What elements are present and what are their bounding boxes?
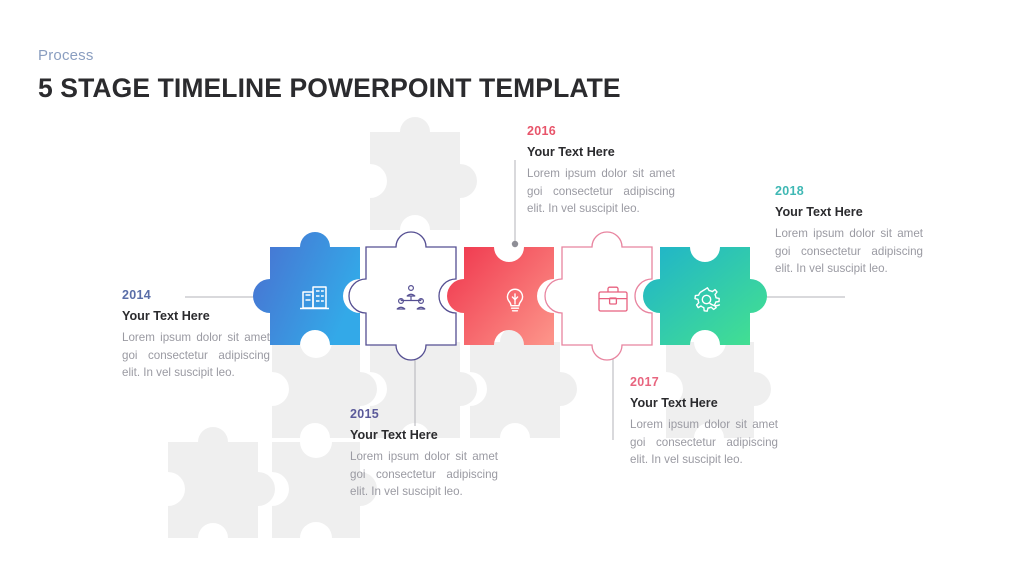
callout-year-2014: 2014 bbox=[122, 289, 270, 302]
callout-year-2018: 2018 bbox=[775, 185, 923, 198]
callout-2016[interactable]: 2016 Your Text Here Lorem ipsum dolor si… bbox=[527, 125, 675, 218]
slide-eyebrow: Process bbox=[38, 47, 94, 64]
callout-year-2015: 2015 bbox=[350, 408, 498, 421]
callout-2014[interactable]: 2014 Your Text Here Lorem ipsum dolor si… bbox=[122, 289, 270, 382]
puzzle-shape-2016 bbox=[447, 247, 554, 345]
connector-dot-2016 bbox=[512, 241, 518, 247]
callout-year-2017: 2017 bbox=[630, 376, 778, 389]
puzzle-piece-2018[interactable] bbox=[643, 247, 767, 345]
callout-2017[interactable]: 2017 Your Text Here Lorem ipsum dolor si… bbox=[630, 376, 778, 469]
ghost-piece-top bbox=[370, 117, 477, 230]
callout-body-2016: Lorem ipsum dolor sit amet goi consectet… bbox=[527, 165, 675, 218]
callout-heading-2014: Your Text Here bbox=[122, 309, 270, 323]
callout-heading-2015: Your Text Here bbox=[350, 428, 498, 442]
callout-body-2015: Lorem ipsum dolor sit amet goi consectet… bbox=[350, 448, 498, 501]
puzzle-piece-2016[interactable] bbox=[447, 247, 554, 345]
callout-heading-2016: Your Text Here bbox=[527, 145, 675, 159]
puzzle-shape-2015 bbox=[349, 232, 456, 360]
callout-heading-2017: Your Text Here bbox=[630, 396, 778, 410]
callout-heading-2018: Your Text Here bbox=[775, 205, 923, 219]
puzzle-piece-2015[interactable] bbox=[349, 232, 456, 360]
callout-2018[interactable]: 2018 Your Text Here Lorem ipsum dolor si… bbox=[775, 185, 923, 278]
puzzle-piece-2017[interactable] bbox=[545, 232, 652, 360]
callout-body-2017: Lorem ipsum dolor sit amet goi consectet… bbox=[630, 416, 778, 469]
callout-body-2014: Lorem ipsum dolor sit amet goi consectet… bbox=[122, 329, 270, 382]
page-title: 5 STAGE TIMELINE POWERPOINT TEMPLATE bbox=[38, 73, 621, 104]
slide-canvas: Process 5 STAGE TIMELINE POWERPOINT TEMP… bbox=[0, 0, 1024, 576]
callout-year-2016: 2016 bbox=[527, 125, 675, 138]
ghost-piece-bottom-left bbox=[168, 427, 275, 538]
callout-2015[interactable]: 2015 Your Text Here Lorem ipsum dolor si… bbox=[350, 408, 498, 501]
callout-body-2018: Lorem ipsum dolor sit amet goi consectet… bbox=[775, 225, 923, 278]
